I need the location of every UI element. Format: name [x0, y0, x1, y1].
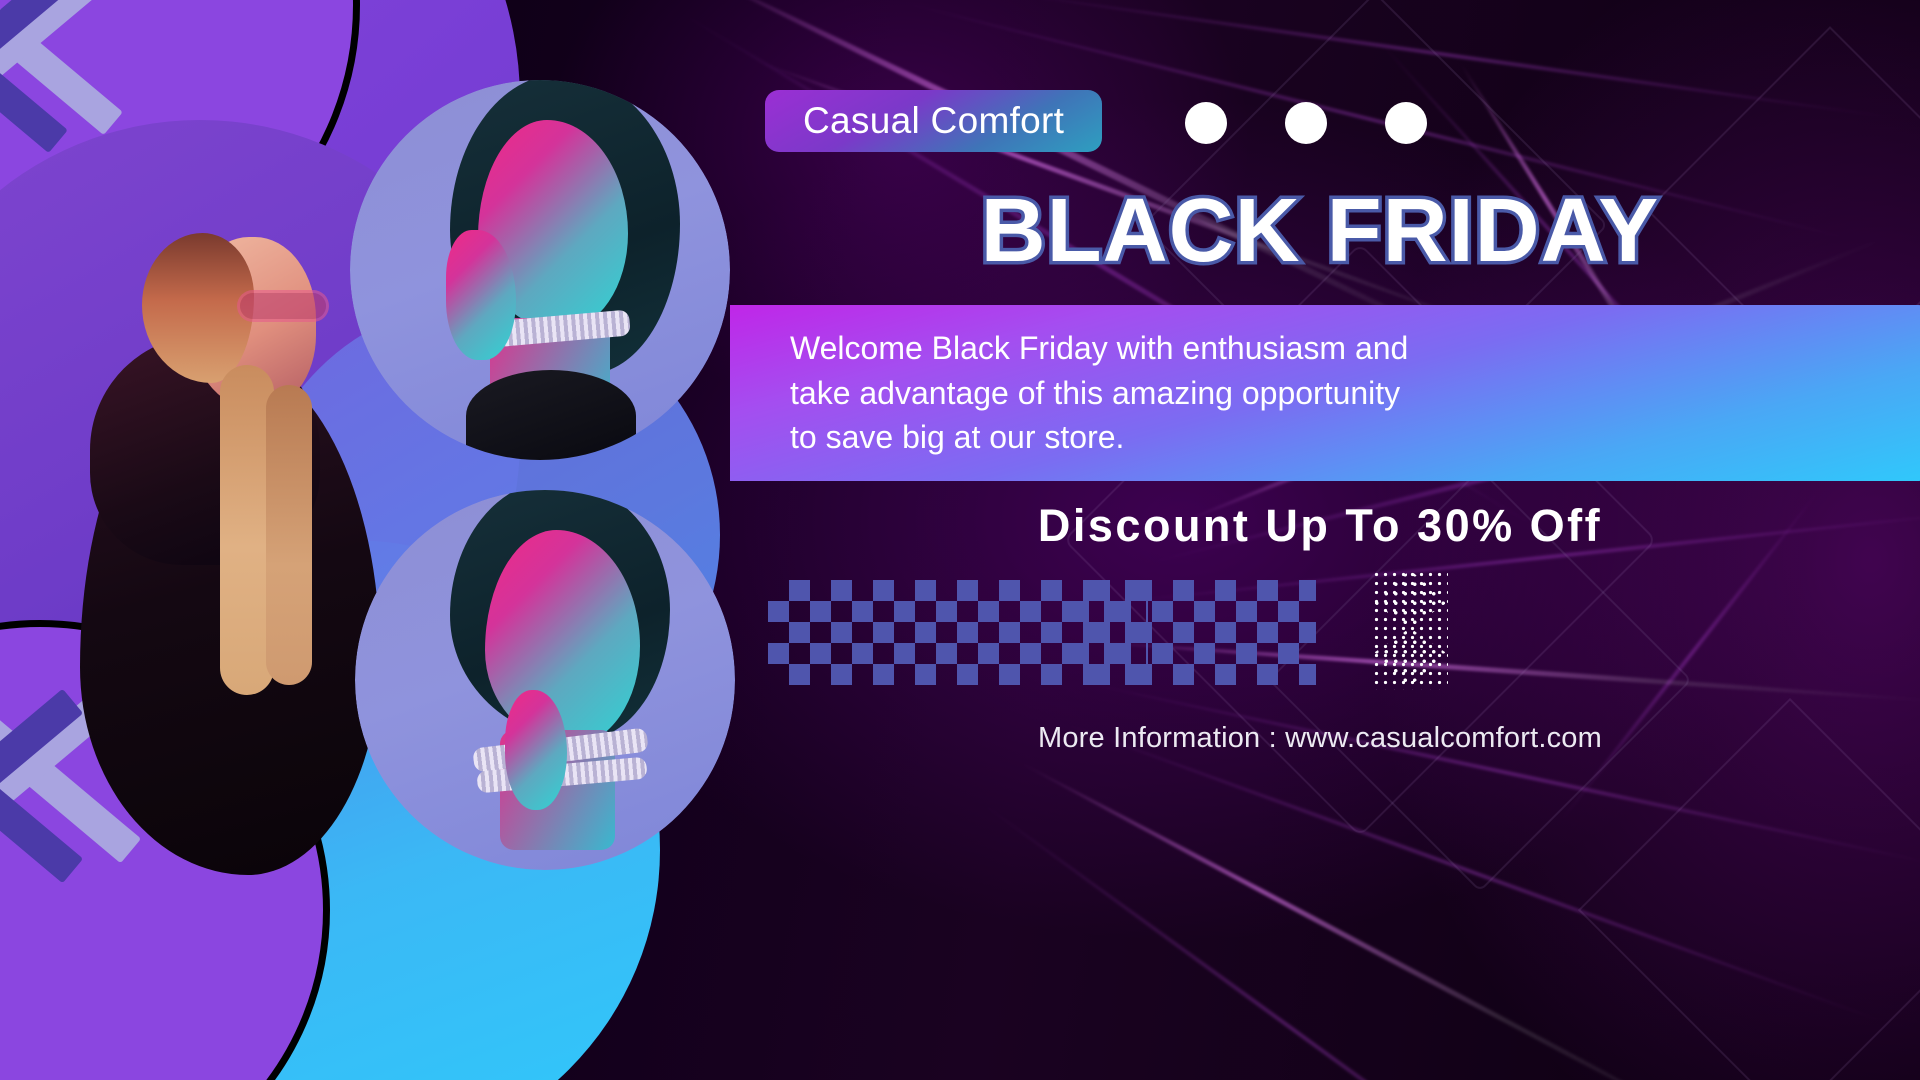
decor-circle-outlined-top — [0, 0, 360, 310]
description-text: Welcome Black Friday with enthusiasm and… — [790, 326, 1410, 460]
footer-info: More Information : www.casualcomfort.com — [760, 722, 1880, 755]
banner-canvas: Casual Comfort BLACK FRIDAY Welcome Blac… — [0, 0, 1920, 1080]
model-portrait-bottom — [355, 490, 735, 870]
brand-pill-label: Casual Comfort — [803, 100, 1064, 142]
halftone-diamond-icon — [1372, 570, 1448, 690]
footer-url-label[interactable]: More Information : www.casualcomfort.com — [1038, 722, 1602, 754]
model-hoodie — [70, 215, 400, 885]
discount-block: Discount Up To 30% Off — [760, 500, 1880, 552]
checker-pattern-right — [1068, 580, 1316, 685]
headline-block: BLACK FRIDAY — [760, 180, 1880, 283]
decor-circle-blue — [40, 540, 660, 1080]
chevron-icon-bottom — [0, 700, 210, 900]
dot-icon-3 — [1385, 102, 1427, 144]
decor-circle-indigo — [250, 300, 720, 770]
discount-text: Discount Up To 30% Off — [1038, 500, 1602, 551]
chevron-icon-top — [0, 0, 200, 170]
content-column: Casual Comfort BLACK FRIDAY Welcome Blac… — [760, 0, 1920, 1080]
decor-circle-purple-large — [0, 0, 520, 450]
dot-icon-1 — [1185, 102, 1227, 144]
brand-pill[interactable]: Casual Comfort — [765, 90, 1102, 152]
decor-circle-outlined-bottom — [0, 620, 330, 1080]
model-portrait-top — [350, 80, 730, 460]
decor-circle-purple-mid — [0, 120, 520, 760]
dot-icon-2 — [1285, 102, 1327, 144]
left-artwork — [0, 0, 770, 1080]
description-card: Welcome Black Friday with enthusiasm and… — [730, 305, 1920, 481]
decor-dots — [1185, 102, 1427, 144]
page-title: BLACK FRIDAY — [760, 180, 1880, 283]
